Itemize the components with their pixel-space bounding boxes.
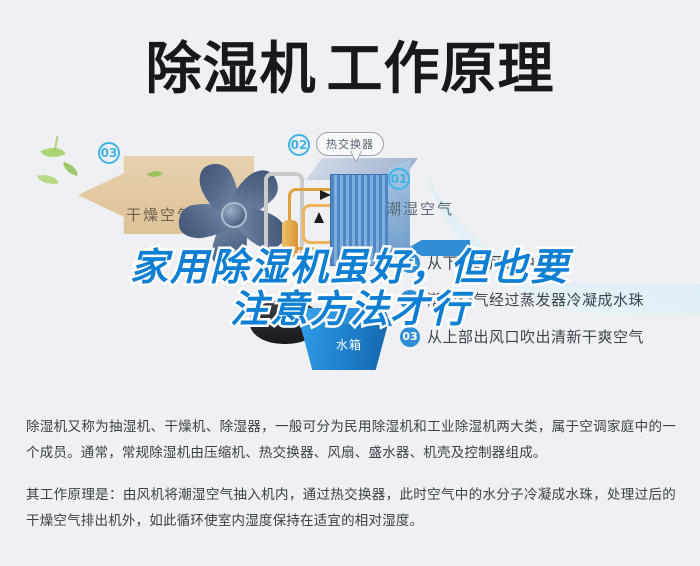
article-body: 除湿机又称为抽湿机、干燥机、除湿器，一般可分为民用除湿机和工业除湿机两大类，属于… bbox=[26, 414, 676, 534]
page-title-part2: 工作原理 bbox=[327, 37, 555, 102]
coil-cylinder bbox=[282, 220, 298, 256]
step-text: 从下部进风口中进风 bbox=[427, 252, 567, 273]
dehumidifier-diagram: 干燥空气 bbox=[0, 118, 700, 398]
water-tank-top bbox=[296, 308, 392, 326]
step-item: 01 从下部进风口中进风 bbox=[400, 252, 690, 273]
body-paragraph-2: 其工作原理是：由风机将潮湿空气抽入机内，通过热交换器，此时空气中的水分子冷凝成水… bbox=[26, 482, 676, 534]
fan-hub bbox=[221, 202, 247, 228]
step-number-badge: 01 bbox=[400, 253, 420, 273]
page-title-part1: 除湿机 bbox=[146, 37, 317, 102]
water-tank-label: 水箱 bbox=[336, 336, 362, 353]
heat-exchanger-fins bbox=[330, 174, 392, 266]
step-item: 02 潮湿空气经过蒸发器冷凝成水珠 bbox=[400, 289, 690, 310]
step-list: 01 从下部进风口中进风 02 潮湿空气经过蒸发器冷凝成水珠 03 从上部出风口… bbox=[400, 252, 690, 363]
step-text: 潮湿空气经过蒸发器冷凝成水珠 bbox=[427, 289, 644, 310]
callout-pointer-icon bbox=[350, 151, 362, 163]
diagram-badge-02: 02 bbox=[288, 134, 310, 156]
page-root: 除湿机工作原理 干燥空气 bbox=[0, 0, 700, 566]
step-number-badge: 03 bbox=[400, 327, 420, 347]
leaf-icon bbox=[40, 142, 65, 163]
water-tank-illustration: 水箱 bbox=[296, 308, 392, 370]
diagram-badge-03: 03 bbox=[98, 142, 120, 164]
flow-arrow-up-icon bbox=[314, 212, 324, 223]
step-number-badge: 02 bbox=[400, 290, 420, 310]
page-title: 除湿机工作原理 bbox=[0, 24, 700, 105]
humid-air-label: 潮湿空气 bbox=[386, 198, 454, 219]
leaf-icon bbox=[37, 173, 58, 187]
diagram-badge-01: 01 bbox=[388, 168, 410, 190]
body-paragraph-1: 除湿机又称为抽湿机、干燥机、除湿器，一般可分为民用除湿机和工业除湿机两大类，属于… bbox=[26, 414, 676, 466]
step-text: 从上部出风口吹出清新干爽空气 bbox=[427, 326, 644, 347]
step-item: 03 从上部出风口吹出清新干爽空气 bbox=[400, 326, 690, 347]
leaf-icon bbox=[61, 162, 80, 176]
